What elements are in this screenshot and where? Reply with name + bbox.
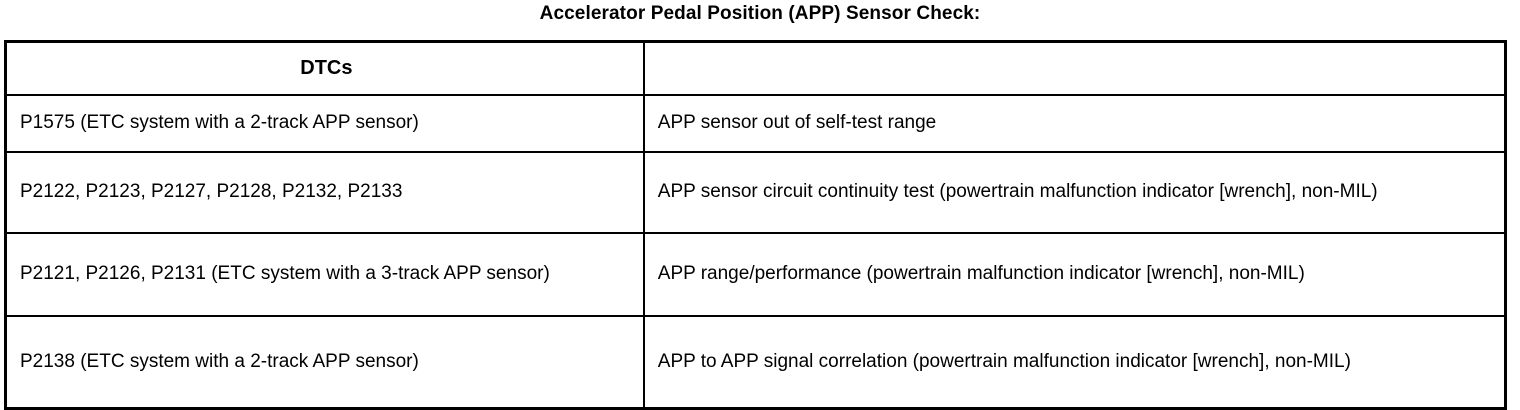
table-row: P2121, P2126, P2131 (ETC system with a 3… (6, 233, 1506, 316)
document-page: Accelerator Pedal Position (APP) Sensor … (0, 0, 1520, 410)
table-header-row: DTCs (6, 42, 1506, 95)
table-row: P2122, P2123, P2127, P2128, P2132, P2133… (6, 152, 1506, 233)
page-title: Accelerator Pedal Position (APP) Sensor … (0, 2, 1520, 26)
column-header-description (644, 42, 1506, 95)
table-row: P2138 (ETC system with a 2-track APP sen… (6, 316, 1506, 409)
column-header-dtcs: DTCs (6, 42, 644, 95)
cell-dtcs: P2121, P2126, P2131 (ETC system with a 3… (6, 233, 644, 316)
cell-description: APP to APP signal correlation (powertrai… (644, 316, 1506, 409)
cell-description: APP sensor out of self-test range (644, 95, 1506, 152)
cell-dtcs: P2138 (ETC system with a 2-track APP sen… (6, 316, 644, 409)
dtc-table: DTCs P1575 (ETC system with a 2-track AP… (4, 40, 1507, 410)
cell-description: APP sensor circuit continuity test (powe… (644, 152, 1506, 233)
cell-description: APP range/performance (powertrain malfun… (644, 233, 1506, 316)
table-row: P1575 (ETC system with a 2-track APP sen… (6, 95, 1506, 152)
cell-dtcs: P2122, P2123, P2127, P2128, P2132, P2133 (6, 152, 644, 233)
cell-dtcs: P1575 (ETC system with a 2-track APP sen… (6, 95, 644, 152)
